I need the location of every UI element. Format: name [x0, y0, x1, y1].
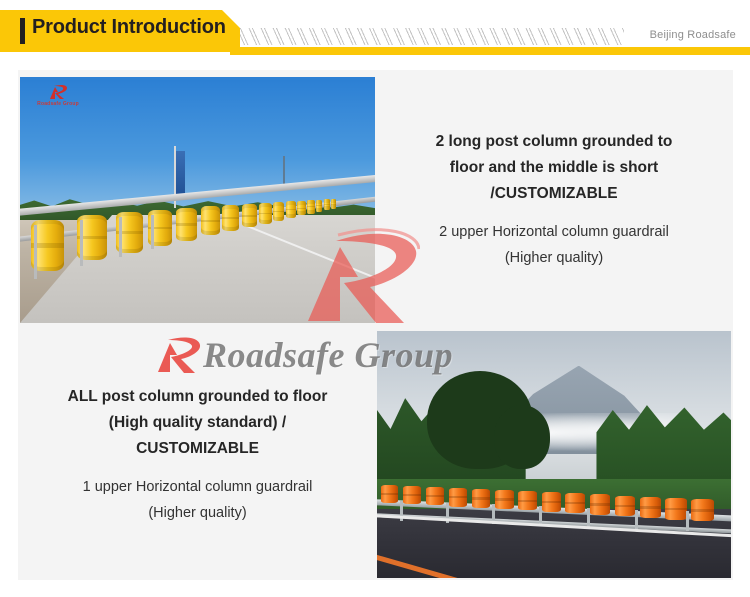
description-strong-line: CUSTOMIZABLE: [136, 436, 259, 462]
photo-yellow-rollers-canvas: [20, 77, 375, 323]
description-normal-line: 2 upper Horizontal column guardrail: [439, 219, 669, 245]
description-strong-line: /CUSTOMIZABLE: [490, 181, 617, 207]
company-name-label: Beijing Roadsafe: [650, 29, 736, 41]
product-description-bottom-left: ALL post column grounded to floor (High …: [20, 331, 375, 578]
page-title: Product Introduction: [32, 16, 226, 39]
header-accent-bar: [230, 47, 750, 55]
description-strong-line: (High quality standard) /: [109, 410, 286, 436]
description-strong-line: floor and the middle is short: [450, 155, 658, 181]
description-normal-line: (Higher quality): [148, 500, 246, 526]
header-tick-mark: [20, 18, 25, 44]
description-normal-line: (Higher quality): [505, 245, 603, 271]
content-grid: 2 long post column grounded to floor and…: [18, 70, 733, 580]
photo2-foreground-tree: [494, 405, 551, 469]
product-description-top-right: 2 long post column grounded to floor and…: [377, 77, 731, 323]
description-normal-line: 1 upper Horizontal column guardrail: [83, 474, 313, 500]
product-photo-orange-rollers: [377, 331, 731, 578]
photo1-roller-row: [20, 77, 375, 323]
description-strong-line: ALL post column grounded to floor: [68, 384, 328, 410]
product-photo-yellow-rollers: [20, 77, 375, 323]
header-hatch-pattern: [232, 28, 624, 45]
photo-orange-rollers-canvas: [377, 331, 731, 578]
page-header: Product Introduction Beijing Roadsafe: [0, 0, 750, 70]
content-sheet: 2 long post column grounded to floor and…: [18, 70, 733, 580]
description-strong-line: 2 long post column grounded to: [436, 129, 673, 155]
